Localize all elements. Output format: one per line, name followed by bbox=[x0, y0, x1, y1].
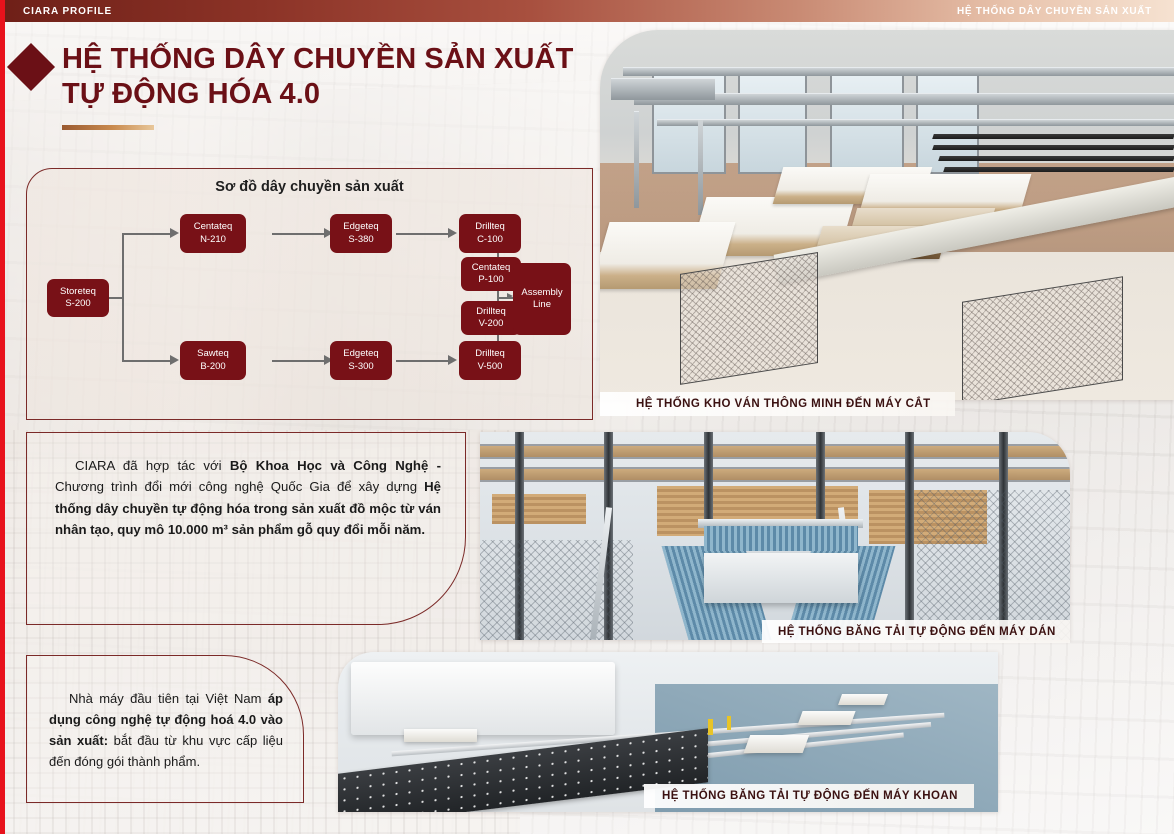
photo-automatic-conveyor-to-gluing bbox=[480, 432, 1070, 640]
header-section-label: HỆ THỐNG DÂY CHUYỀN SẢN XUẤT bbox=[957, 6, 1174, 17]
title-row: HỆ THỐNG DÂY CHUYỀN SẢN XUẤT TỰ ĐỘNG HÓA… bbox=[14, 42, 574, 113]
connector-to-centateq-n210 bbox=[122, 233, 172, 235]
node-assembly-line[interactable]: Assembly Line bbox=[513, 263, 571, 335]
photo-2-caption: HỆ THỐNG BĂNG TẢI TỰ ĐỘNG ĐẾN MÁY DÁN bbox=[762, 620, 1070, 643]
node-edgeteq-s300-name: Edgeteq bbox=[343, 348, 378, 360]
node-sawteq-b200[interactable]: Sawteq B-200 bbox=[180, 341, 246, 380]
node-sawteq-b200-model: B-200 bbox=[200, 361, 225, 373]
node-drillteq-v500[interactable]: Drillteq V-500 bbox=[459, 341, 521, 380]
left-red-rail bbox=[0, 0, 5, 834]
production-line-diagram: Sơ đồ dây chuyền sản xuất Storeteq S-200… bbox=[26, 168, 593, 420]
node-centateq-p100-name: Centateq bbox=[472, 262, 511, 274]
page-title-line-1: HỆ THỐNG DÂY CHUYỀN SẢN XUẤT bbox=[62, 43, 573, 75]
text-block-first-factory-body: Nhà máy đầu tiên tại Việt Nam áp dụng cô… bbox=[27, 656, 303, 772]
node-drillteq-v200-model: V-200 bbox=[479, 318, 504, 330]
header-brand-label: CIARA PROFILE bbox=[5, 6, 112, 17]
connector-edgeteq300-to-drillteq-v500 bbox=[396, 360, 450, 362]
node-drillteq-v200-name: Drillteq bbox=[476, 306, 506, 318]
photo-2-content bbox=[480, 432, 1070, 640]
node-drillteq-v500-name: Drillteq bbox=[475, 348, 505, 360]
photo-1-caption: HỆ THỐNG KHO VÁN THÔNG MINH ĐẾN MÁY CẮT bbox=[600, 392, 955, 416]
node-sawteq-b200-name: Sawteq bbox=[197, 348, 229, 360]
page-title-line-2: TỰ ĐỘNG HÓA 4.0 bbox=[62, 77, 573, 112]
node-edgeteq-s380-model: S-380 bbox=[348, 234, 373, 246]
node-edgeteq-s380[interactable]: Edgeteq S-380 bbox=[330, 214, 392, 253]
node-drillteq-c100-name: Drillteq bbox=[475, 221, 505, 233]
arrow-to-sawteq bbox=[170, 355, 179, 365]
arrow-to-centateq-n210 bbox=[170, 228, 179, 238]
node-drillteq-v500-model: V-500 bbox=[478, 361, 503, 373]
page-title-block: HỆ THỐNG DÂY CHUYỀN SẢN XUẤT TỰ ĐỘNG HÓA… bbox=[14, 42, 574, 130]
diamond-bullet-icon bbox=[7, 43, 55, 91]
text-block-first-factory: Nhà máy đầu tiên tại Việt Nam áp dụng cô… bbox=[26, 655, 304, 803]
connector-edgeteq380-to-drillteq-c100 bbox=[396, 233, 450, 235]
connector-to-sawteq bbox=[122, 360, 172, 362]
page-header: CIARA PROFILE HỆ THỐNG DÂY CHUYỀN SẢN XU… bbox=[5, 0, 1174, 22]
node-storeteq-name: Storeteq bbox=[60, 286, 96, 298]
node-edgeteq-s300[interactable]: Edgeteq S-300 bbox=[330, 341, 392, 380]
node-centateq-n210-model: N-210 bbox=[200, 234, 226, 246]
node-assembly-line-name: Assembly bbox=[521, 287, 562, 299]
photo-smart-panel-warehouse bbox=[600, 30, 1174, 400]
photo-3-caption: HỆ THỐNG BĂNG TẢI TỰ ĐỘNG ĐẾN MÁY KHOAN bbox=[644, 784, 974, 808]
arrow-to-drillteq-c100 bbox=[448, 228, 457, 238]
node-centateq-n210-name: Centateq bbox=[194, 221, 233, 233]
connector-centateq-to-edgeteq380 bbox=[272, 233, 326, 235]
node-storeteq-model: S-200 bbox=[65, 298, 90, 310]
node-centateq-p100-model: P-100 bbox=[478, 274, 503, 286]
page-title: HỆ THỐNG DÂY CHUYỀN SẢN XUẤT TỰ ĐỘNG HÓA… bbox=[62, 42, 573, 113]
node-assembly-line-model: Line bbox=[533, 299, 551, 311]
title-underline-accent bbox=[62, 125, 154, 130]
tb1-seg-1: Bộ Khoa Học và Công Nghệ - bbox=[230, 458, 441, 473]
node-edgeteq-s300-model: S-300 bbox=[348, 361, 373, 373]
photo-1-content bbox=[600, 30, 1174, 400]
tb1-seg-0: CIARA đã hợp tác với bbox=[75, 458, 230, 473]
connector-sawteq-to-edgeteq300 bbox=[272, 360, 326, 362]
arrow-to-drillteq-v500 bbox=[448, 355, 457, 365]
node-drillteq-v200[interactable]: Drillteq V-200 bbox=[461, 301, 521, 335]
node-edgeteq-s380-name: Edgeteq bbox=[343, 221, 378, 233]
tb2-seg-0: Nhà máy đầu tiên tại Việt Nam bbox=[69, 691, 268, 706]
diagram-title: Sơ đồ dây chuyền sản xuất bbox=[27, 179, 592, 195]
node-drillteq-c100-model: C-100 bbox=[477, 234, 503, 246]
tb1-seg-2: Chương trình đổi mới công nghệ Quốc Gia … bbox=[55, 479, 424, 494]
node-centateq-n210[interactable]: Centateq N-210 bbox=[180, 214, 246, 253]
node-centateq-p100[interactable]: Centateq P-100 bbox=[461, 257, 521, 291]
node-storeteq[interactable]: Storeteq S-200 bbox=[47, 279, 109, 317]
text-block-partnership: CIARA đã hợp tác với Bộ Khoa Học và Công… bbox=[26, 432, 466, 625]
node-drillteq-c100[interactable]: Drillteq C-100 bbox=[459, 214, 521, 253]
text-block-partnership-body: CIARA đã hợp tác với Bộ Khoa Học và Công… bbox=[27, 433, 465, 541]
slide-page: CIARA PROFILE HỆ THỐNG DÂY CHUYỀN SẢN XU… bbox=[0, 0, 1174, 834]
